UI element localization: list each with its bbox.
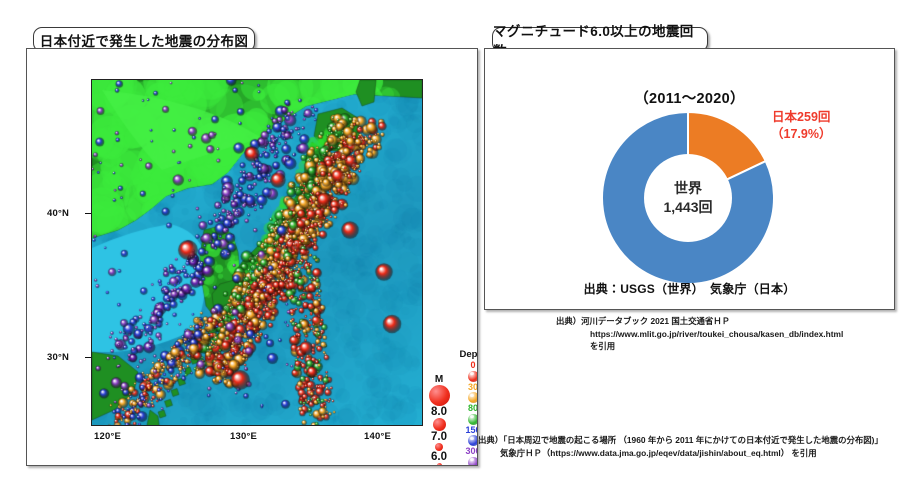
map-canvas bbox=[92, 80, 422, 425]
depth-legend-marker-icon bbox=[468, 457, 478, 466]
map-magnitude-legend: M 8.07.06.05.0 bbox=[425, 374, 453, 465]
depth-legend-item: 30 bbox=[451, 383, 477, 405]
depth-legend-item: 0 bbox=[451, 361, 477, 383]
depth-legend-item: 80 bbox=[451, 404, 477, 426]
magnitude-legend-item: 7.0 bbox=[425, 418, 453, 443]
map-panel-title-text: 日本付近で発生した地震の分布図 bbox=[40, 30, 249, 50]
japan-share-percent: （17.9%） bbox=[771, 126, 831, 143]
river-databook-footnote: 出典）河川データブック 2021 国土交通省ＨＰ https://www.mli… bbox=[556, 315, 843, 353]
japan-share-count: 日本259回 bbox=[771, 109, 831, 126]
river-footnote-line-2: https://www.mlit.go.jp/river/toukei_chou… bbox=[556, 328, 843, 341]
depth-legend-value: 0 bbox=[451, 361, 477, 370]
magnitude-legend-marker-icon bbox=[433, 418, 446, 431]
depth-legend-marker-icon bbox=[468, 414, 478, 425]
magnitude-legend-marker-icon bbox=[437, 463, 442, 465]
depth-legend-rows: 03080150300700 bbox=[451, 361, 477, 465]
magnitude-legend-value: 6.0 bbox=[425, 451, 453, 463]
depth-legend-item: 300 bbox=[451, 447, 477, 465]
chart-source-label: 出典：USGS（世界） 気象庁（日本） bbox=[485, 280, 894, 297]
donut-chart: 世界 1,443回 bbox=[601, 111, 775, 285]
map-depth-legend: Depth 03080150300700 bbox=[451, 349, 477, 465]
magnitude-legend-item: 6.0 bbox=[425, 443, 453, 463]
depth-legend-marker-icon bbox=[468, 371, 478, 382]
earthquake-count-chart-panel: （2011〜2020） 世界 1,443回 日本259回 （17.9%） 出典：… bbox=[484, 48, 895, 310]
magnitude-legend-marker-icon bbox=[435, 443, 443, 451]
earthquake-distribution-map bbox=[91, 79, 423, 426]
map-source-footnote: 出典）「日本周辺で地震の起こる場所 （1960 年から 2011 年にかけての日… bbox=[478, 434, 883, 459]
chart-period-label: （2011〜2020） bbox=[485, 87, 894, 108]
magnitude-legend-rows: 8.07.06.05.0 bbox=[425, 385, 453, 465]
magnitude-legend-value: 7.0 bbox=[425, 431, 453, 443]
magnitude-legend-title: M bbox=[425, 374, 453, 385]
map-lon-label-120e: 120°E bbox=[94, 431, 121, 442]
map-footnote-line-1: 出典）「日本周辺で地震の起こる場所 （1960 年から 2011 年にかけての日… bbox=[478, 434, 883, 447]
donut-hole bbox=[644, 154, 732, 242]
depth-legend-marker-icon bbox=[468, 392, 478, 403]
magnitude-legend-item: 8.0 bbox=[425, 385, 453, 418]
depth-legend-item: 150 bbox=[451, 426, 477, 448]
map-lat-tick-30n bbox=[85, 357, 91, 358]
map-lon-label-140e: 140°E bbox=[364, 431, 391, 442]
map-lat-tick-40n bbox=[85, 213, 91, 214]
depth-legend-title: Depth bbox=[451, 349, 477, 360]
depth-legend-value: 150 bbox=[451, 426, 477, 435]
river-footnote-line-3: を引用 bbox=[556, 340, 843, 353]
earthquake-map-panel: 500 km 40°N 30°N 120°E 130°E 140°E bbox=[26, 48, 478, 466]
map-lon-label-130e: 130°E bbox=[230, 431, 257, 442]
donut-chart-svg bbox=[601, 111, 775, 285]
depth-legend-value: 30 bbox=[451, 383, 477, 392]
japan-share-callout: 日本259回 （17.9%） bbox=[771, 109, 831, 143]
map-footnote-line-2: 気象庁ＨＰ（https://www.data.jma.go.jp/eqev/da… bbox=[478, 447, 883, 460]
map-lat-label-40n: 40°N bbox=[47, 208, 69, 219]
map-lat-label-30n: 30°N bbox=[47, 352, 69, 363]
depth-legend-value: 300 bbox=[451, 447, 477, 456]
depth-legend-value: 80 bbox=[451, 404, 477, 413]
map-inner-container: 500 km 40°N 30°N 120°E 130°E 140°E bbox=[27, 49, 477, 465]
depth-legend-marker-icon bbox=[468, 435, 478, 446]
magnitude-legend-item: 5.0 bbox=[425, 463, 453, 465]
river-footnote-line-1: 出典）河川データブック 2021 国土交通省ＨＰ bbox=[556, 315, 843, 328]
magnitude-legend-marker-icon bbox=[429, 385, 450, 406]
magnitude-legend-value: 8.0 bbox=[425, 406, 453, 418]
